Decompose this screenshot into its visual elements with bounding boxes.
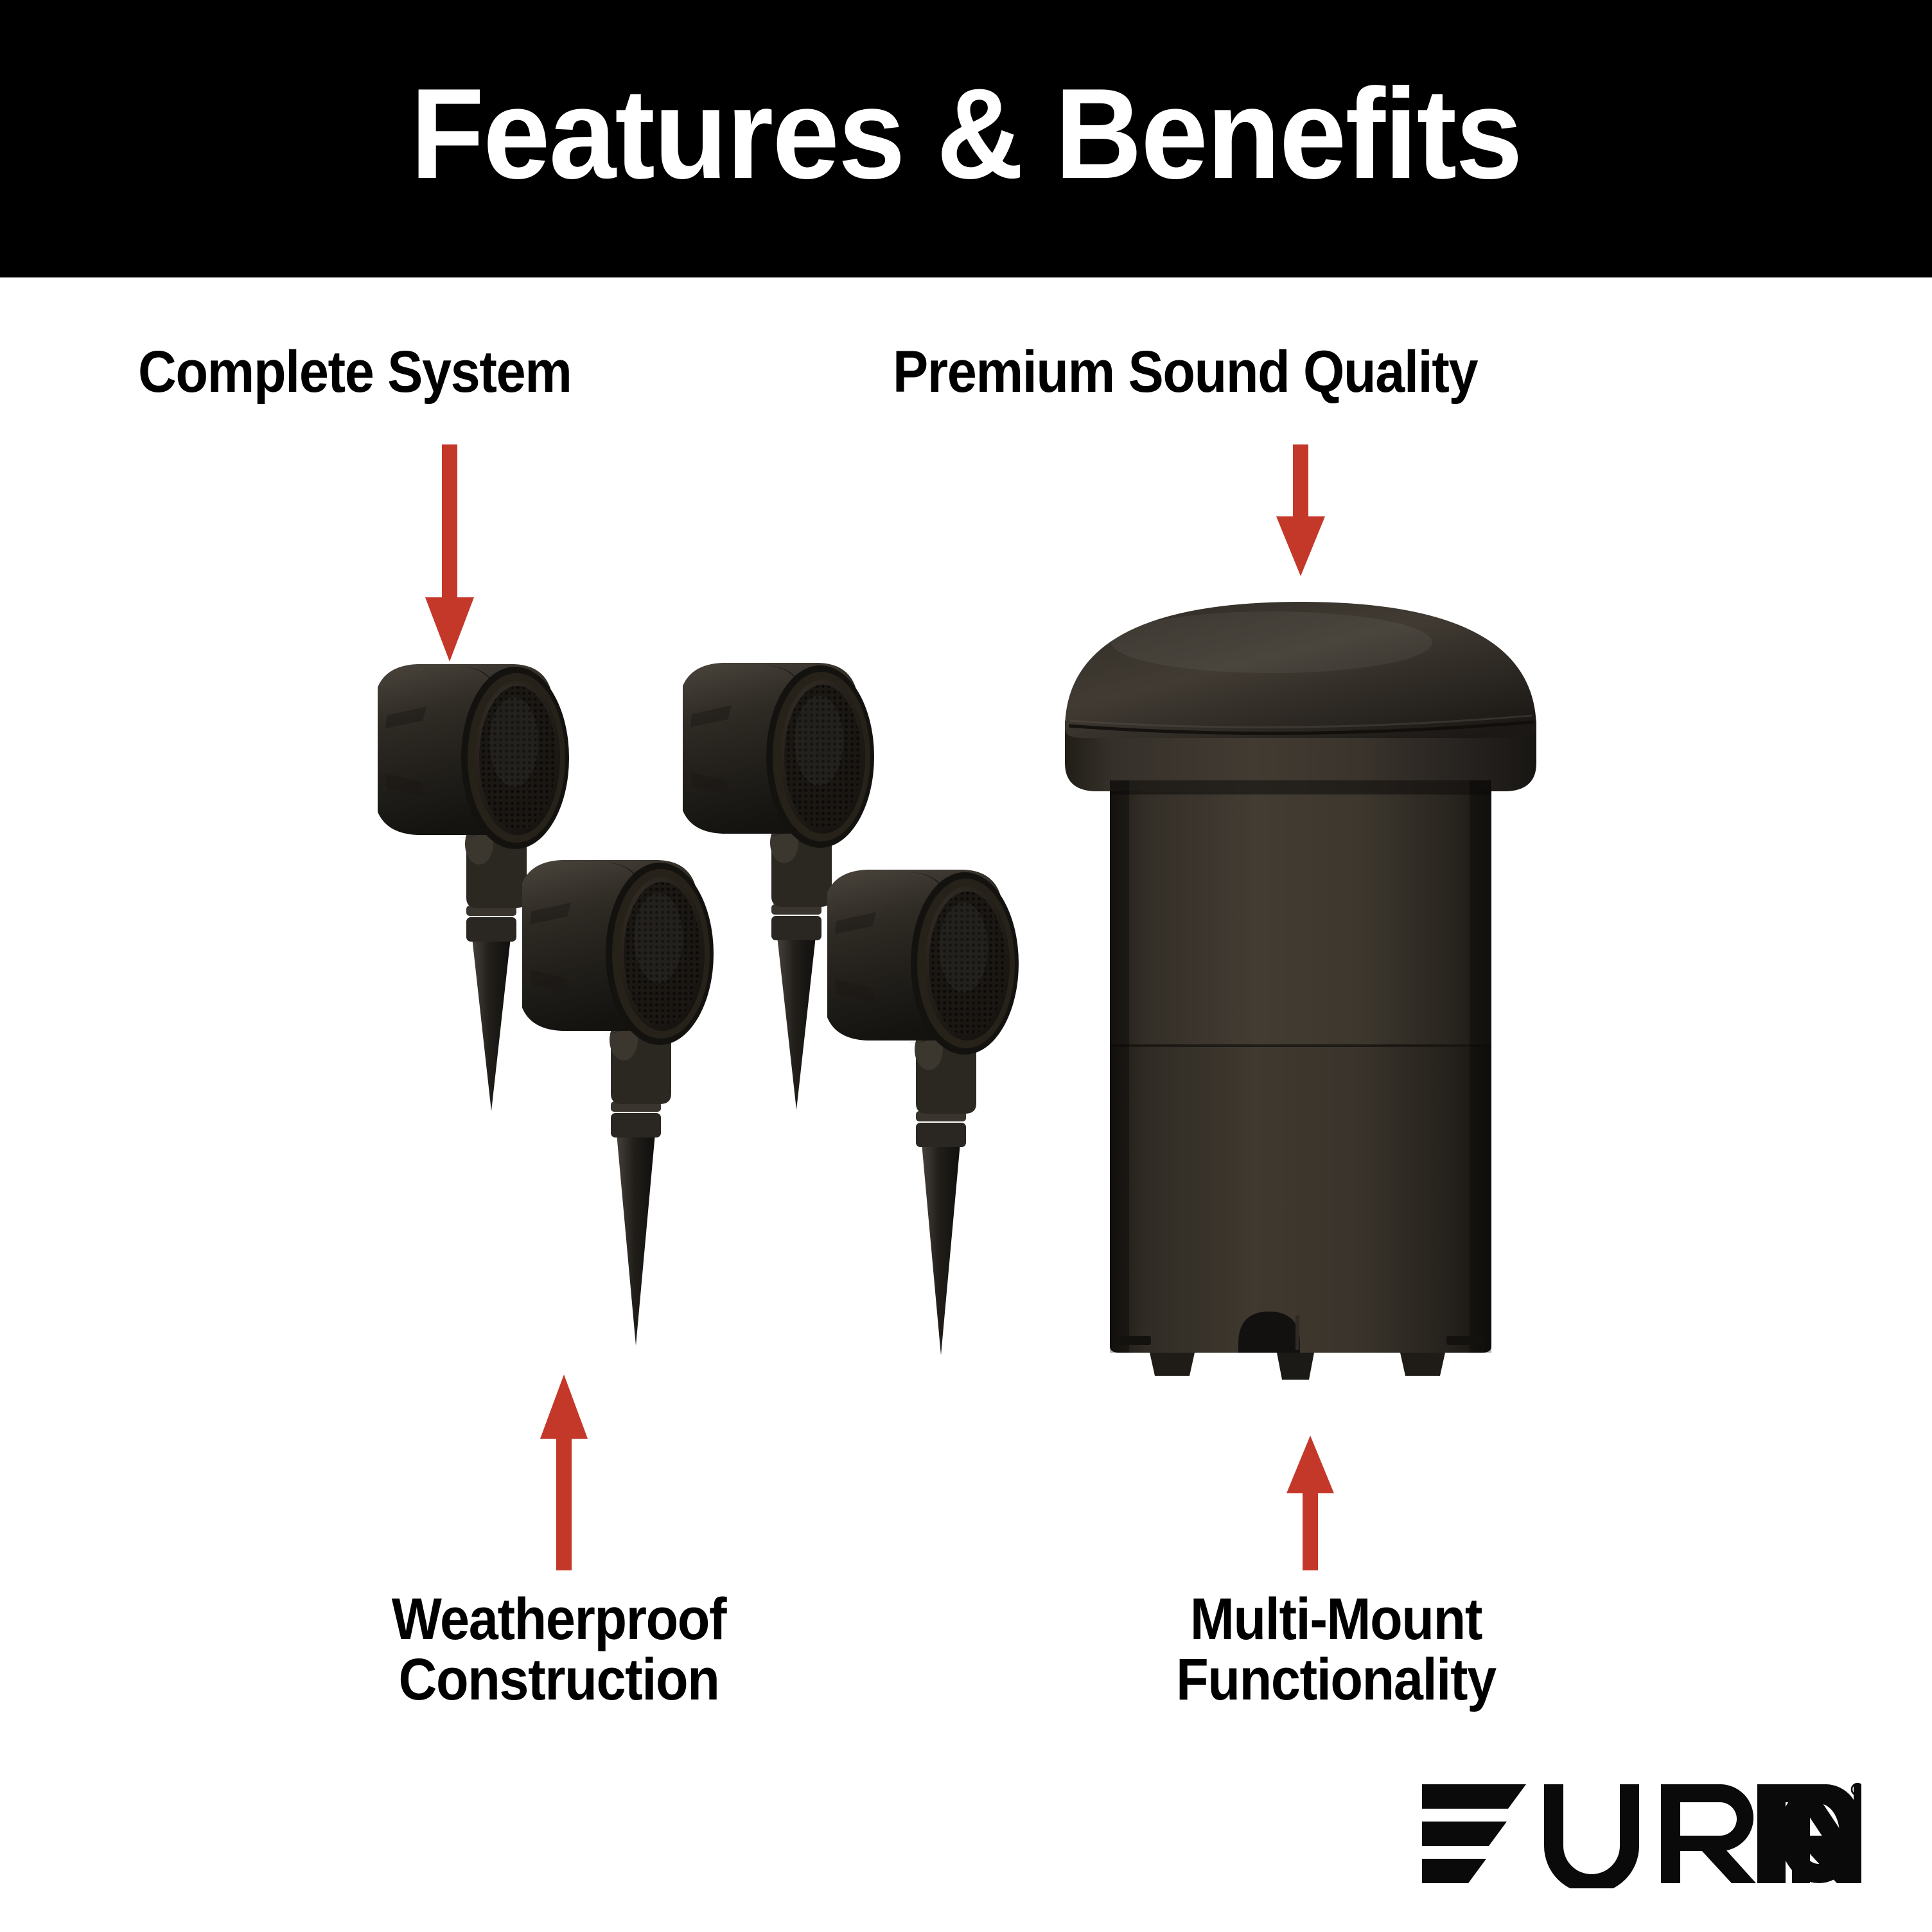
callout-label-premium-sound-quality: Premium Sound Quality (893, 342, 1477, 403)
callout-label-complete-system: Complete System (138, 342, 572, 403)
down-arrow-premium-sound-quality-icon (1269, 444, 1333, 576)
up-arrow-multi-mount-functionality-icon (1281, 1436, 1339, 1570)
satellite-speaker (803, 867, 1079, 1317)
up-arrow-weatherproof-construction-icon (535, 1374, 593, 1570)
infographic-page: Features & Benefits Complete System Prem… (0, 0, 1932, 1932)
in-ground-subwoofer (1053, 597, 1548, 1387)
page-title: Features & Benefits (58, 0, 1874, 277)
callout-label-weatherproof-construction: Weatherproof Construction (339, 1590, 778, 1710)
furrion-logo: R (1418, 1780, 1861, 1888)
svg-text:R: R (1855, 1786, 1861, 1795)
header-banner: Features & Benefits (0, 0, 1932, 277)
callout-label-multi-mount-functionality: Multi-Mount Functionality (1116, 1590, 1556, 1710)
landscape-satellite-speakers-group (360, 674, 1041, 1387)
down-arrow-complete-system-icon (417, 444, 482, 662)
satellite-speaker (498, 857, 774, 1307)
